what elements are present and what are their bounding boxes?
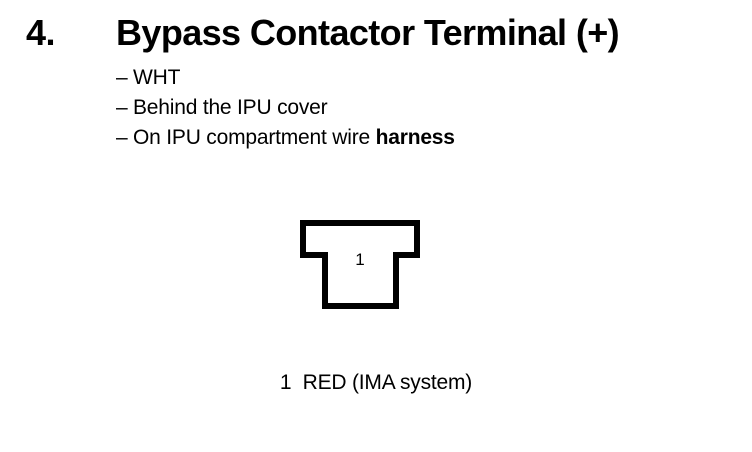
bullet-text-plain: On IPU compartment wire xyxy=(133,126,376,149)
slide-canvas: 4. Bypass Contactor Terminal (+) – WHT –… xyxy=(0,0,752,452)
list-item: – Behind the IPU cover xyxy=(116,93,676,123)
bullet-dash-icon: – xyxy=(116,93,133,123)
connector-pin-label: 1 xyxy=(292,250,428,270)
bullet-dash-icon: – xyxy=(116,123,133,153)
list-item: – On IPU compartment wire harness xyxy=(116,123,676,153)
page-title: Bypass Contactor Terminal (+) xyxy=(116,11,619,55)
connector-diagram: 1 xyxy=(292,212,428,314)
bullet-text: On IPU compartment wire harness xyxy=(133,123,455,153)
figure-caption: 1 RED (IMA system) xyxy=(0,370,752,396)
bullet-text: WHT xyxy=(133,63,180,93)
bullet-dash-icon: – xyxy=(116,63,133,93)
slide-header: 4. Bypass Contactor Terminal (+) xyxy=(0,11,752,59)
list-item: – WHT xyxy=(116,63,676,93)
slide-number: 4. xyxy=(26,11,55,55)
bullet-text: Behind the IPU cover xyxy=(133,93,327,123)
bullet-list: – WHT – Behind the IPU cover – On IPU co… xyxy=(116,63,676,153)
bullet-text-emphasis: harness xyxy=(376,126,455,149)
